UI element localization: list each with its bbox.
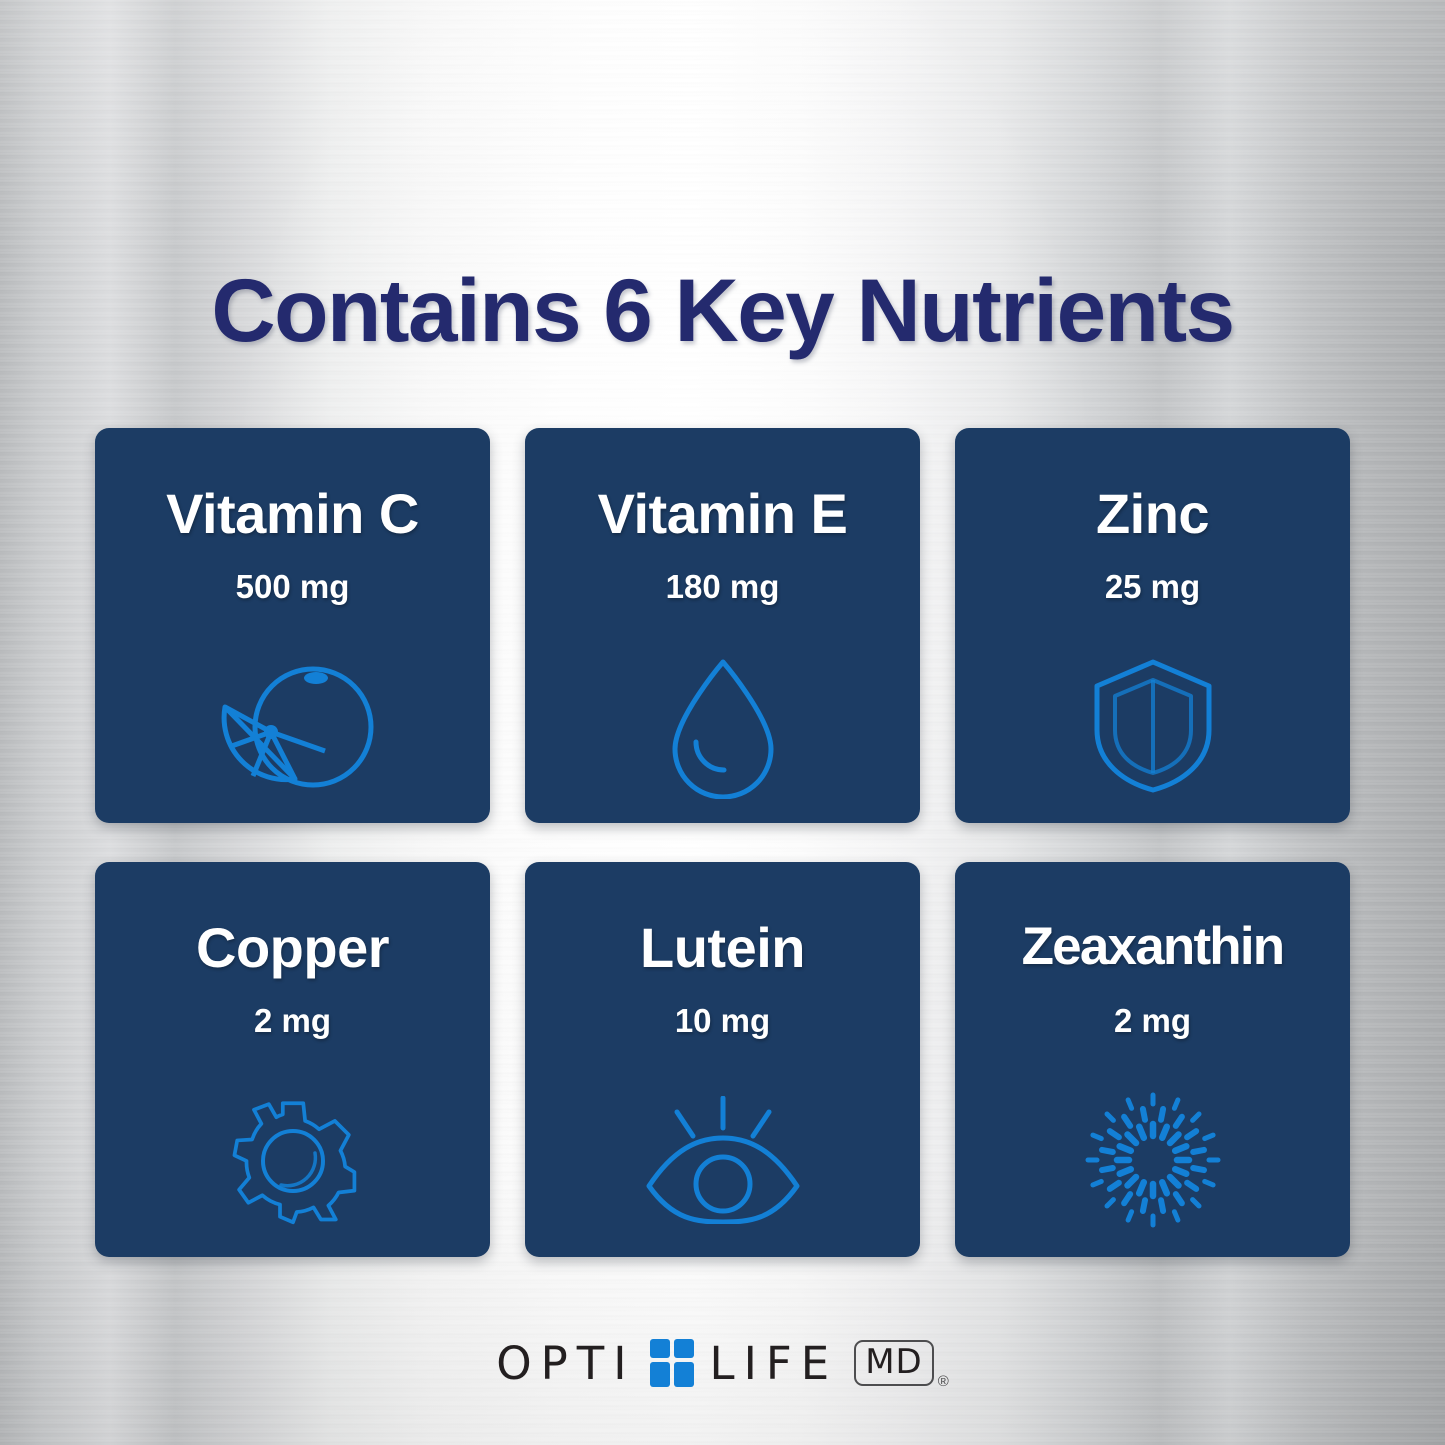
nutrient-dose: 10 mg [535,1004,910,1037]
four-squares-icon [650,1339,694,1387]
nutrient-name: Zinc [965,486,1340,542]
nutrient-card-vitamin-c[interactable]: Vitamin C 500 mg [95,428,490,823]
nutrient-dose: 2 mg [965,1004,1340,1037]
nutrient-card-zeaxanthin[interactable]: Zeaxanthin 2 mg [955,862,1350,1257]
nutrient-card-zinc[interactable]: Zinc 25 mg [955,428,1350,823]
nutrient-name: Copper [105,920,480,976]
brand-logo: OPTI LIFE MD ® [0,1328,1445,1398]
sunburst-icon [955,1080,1350,1240]
gear-icon [95,1080,490,1240]
shield-icon [955,646,1350,806]
nutrient-card-copper[interactable]: Copper 2 mg [95,862,490,1257]
citrus-orange-icon [95,646,490,806]
logo-word-opti: OPTI [496,1341,635,1386]
nutrient-dose: 2 mg [105,1004,480,1037]
nutrient-name: Vitamin E [535,486,910,542]
droplet-icon [525,646,920,806]
page-title: Contains 6 Key Nutrients [0,266,1445,355]
nutrient-card-lutein[interactable]: Lutein 10 mg [525,862,920,1257]
md-badge: MD [854,1340,934,1386]
nutrient-name: Vitamin C [105,486,480,542]
product-infographic: Contains 6 Key Nutrients Vitamin C 500 m… [0,0,1445,1445]
registered-trademark-icon: ® [938,1373,949,1390]
nutrient-dose: 25 mg [965,570,1340,603]
eye-icon [525,1080,920,1240]
nutrient-name: Zeaxanthin [965,920,1340,973]
nutrient-dose: 500 mg [105,570,480,603]
nutrient-grid: Vitamin C 500 mg [95,428,1350,1257]
nutrient-dose: 180 mg [535,570,910,603]
logo-word-life: LIFE [710,1341,839,1386]
nutrient-name: Lutein [535,920,910,976]
nutrient-card-vitamin-e[interactable]: Vitamin E 180 mg [525,428,920,823]
